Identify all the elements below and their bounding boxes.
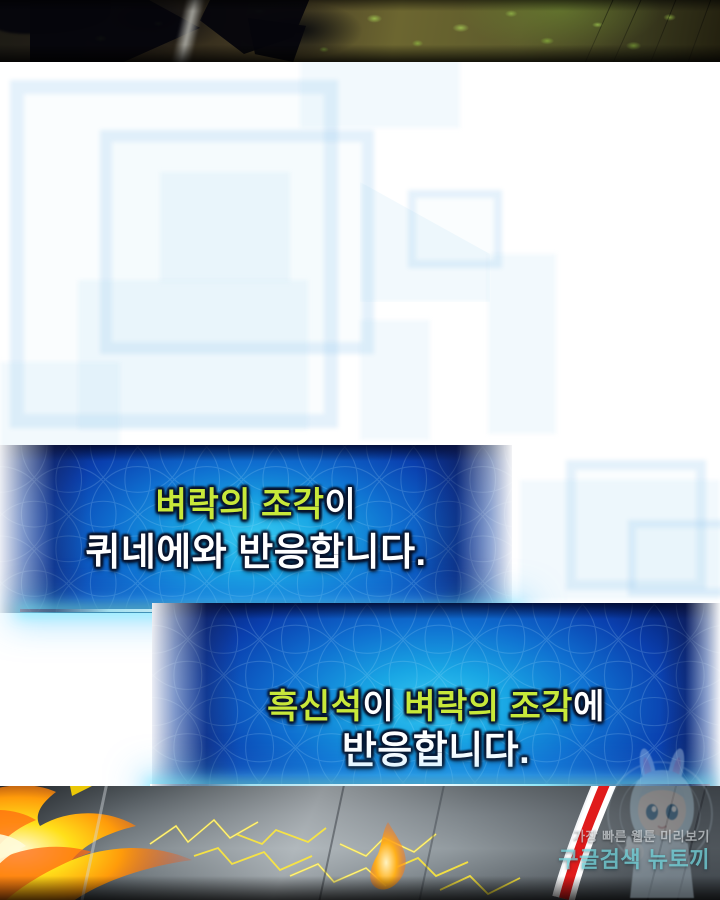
pale-frame-far-right: [628, 520, 720, 596]
pale-block-left-low: [0, 362, 120, 452]
strip-vignette: [0, 0, 720, 62]
system-banner-1: 벼락의 조각이 퀴네에와 반응합니다.: [0, 445, 512, 613]
banner-2-line-1-highlight-a: 흑신석: [267, 688, 362, 726]
banner-2-line-1-normal-b: 에: [573, 688, 605, 726]
banner-2-line-2-normal: 반응합니다.: [342, 730, 530, 772]
banner-2-line-1-highlight-b: 벼락의 조각: [404, 688, 573, 726]
banner-1-left-fade: [0, 445, 88, 613]
webtoon-panel-stage: 벼락의 조각이 퀴네에와 반응합니다.: [0, 0, 720, 900]
pale-block-top-right: [300, 62, 460, 128]
banner-2-line-1: 흑신석이 벼락의 조각에: [152, 687, 720, 727]
banner-1-line-2-normal: 퀴네에와 반응합니다.: [85, 532, 426, 574]
pale-block-right-lower: [360, 320, 430, 440]
bunny-girl-watermark-icon: [598, 748, 718, 898]
pale-block-right-tall: [488, 254, 556, 434]
banner-1-right-fade: [416, 445, 512, 613]
top-photo-strip: [0, 0, 720, 62]
watermark-line-2: 구글검색 뉴토끼: [558, 842, 710, 874]
banner-1-line-1-highlight: 벼락의 조각: [156, 486, 325, 524]
banner-1-line-2: 퀴네에와 반응합니다.: [0, 531, 512, 576]
banner-2-line-1-normal-a: 이: [362, 688, 404, 726]
pale-block-upper: [160, 172, 290, 282]
banner-1-line-1: 벼락의 조각이: [0, 485, 512, 525]
banner-1-line-1-normal: 이: [325, 486, 357, 524]
